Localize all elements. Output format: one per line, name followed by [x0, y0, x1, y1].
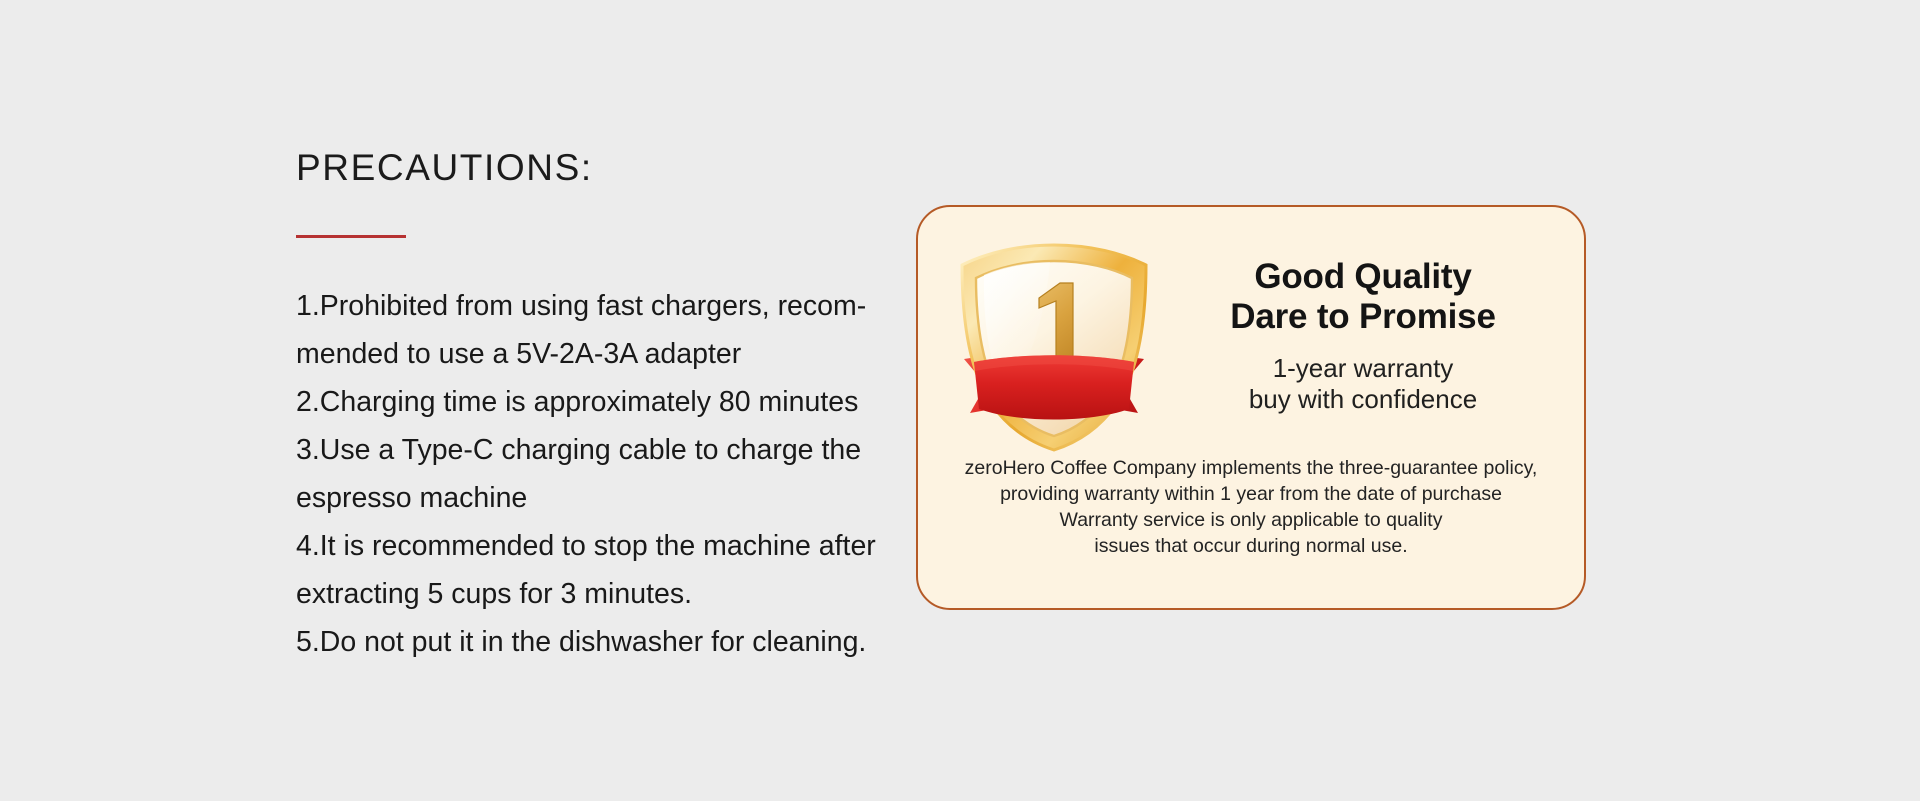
- fineprint-line: Warranty service is only applicable to q…: [952, 507, 1550, 533]
- precautions-list: 1.Prohibited from using fast chargers, r…: [296, 282, 916, 666]
- warranty-card: 1 Good Quality Dare to Promise 1-year wa…: [916, 205, 1586, 610]
- fineprint-line: issues that occur during normal use.: [952, 533, 1550, 559]
- warranty-headline: Good Quality Dare to Promise: [1168, 257, 1558, 337]
- warranty-subline: 1-year warranty buy with confidence: [1168, 353, 1558, 415]
- shield-ribbon-badge-icon: 1: [940, 231, 1168, 453]
- warranty-subline-line2: buy with confidence: [1168, 384, 1558, 415]
- page-title: PRECAUTIONS:: [296, 148, 916, 189]
- warranty-subline-line1: 1-year warranty: [1168, 353, 1558, 384]
- warranty-headings: Good Quality Dare to Promise 1-year warr…: [1168, 231, 1558, 415]
- fineprint-line: zeroHero Coffee Company implements the t…: [952, 455, 1550, 481]
- precautions-section: PRECAUTIONS: 1.Prohibited from using fas…: [296, 148, 916, 666]
- title-divider: [296, 235, 406, 238]
- list-item: 3.Use a Type-C charging cable to charge …: [296, 426, 916, 522]
- fineprint-line: providing warranty within 1 year from th…: [952, 481, 1550, 507]
- warranty-card-top: 1 Good Quality Dare to Promise 1-year wa…: [918, 207, 1584, 429]
- list-item: 4.It is recommended to stop the machine …: [296, 522, 916, 618]
- list-item: 5.Do not put it in the dishwasher for cl…: [296, 618, 916, 666]
- shield-badge-graphic: [940, 231, 1168, 453]
- list-item: 2.Charging time is approximately 80 minu…: [296, 378, 916, 426]
- warranty-headline-line1: Good Quality: [1168, 257, 1558, 297]
- page-root: PRECAUTIONS: 1.Prohibited from using fas…: [0, 0, 1920, 801]
- list-item: 1.Prohibited from using fast chargers, r…: [296, 282, 916, 378]
- warranty-headline-line2: Dare to Promise: [1168, 297, 1558, 337]
